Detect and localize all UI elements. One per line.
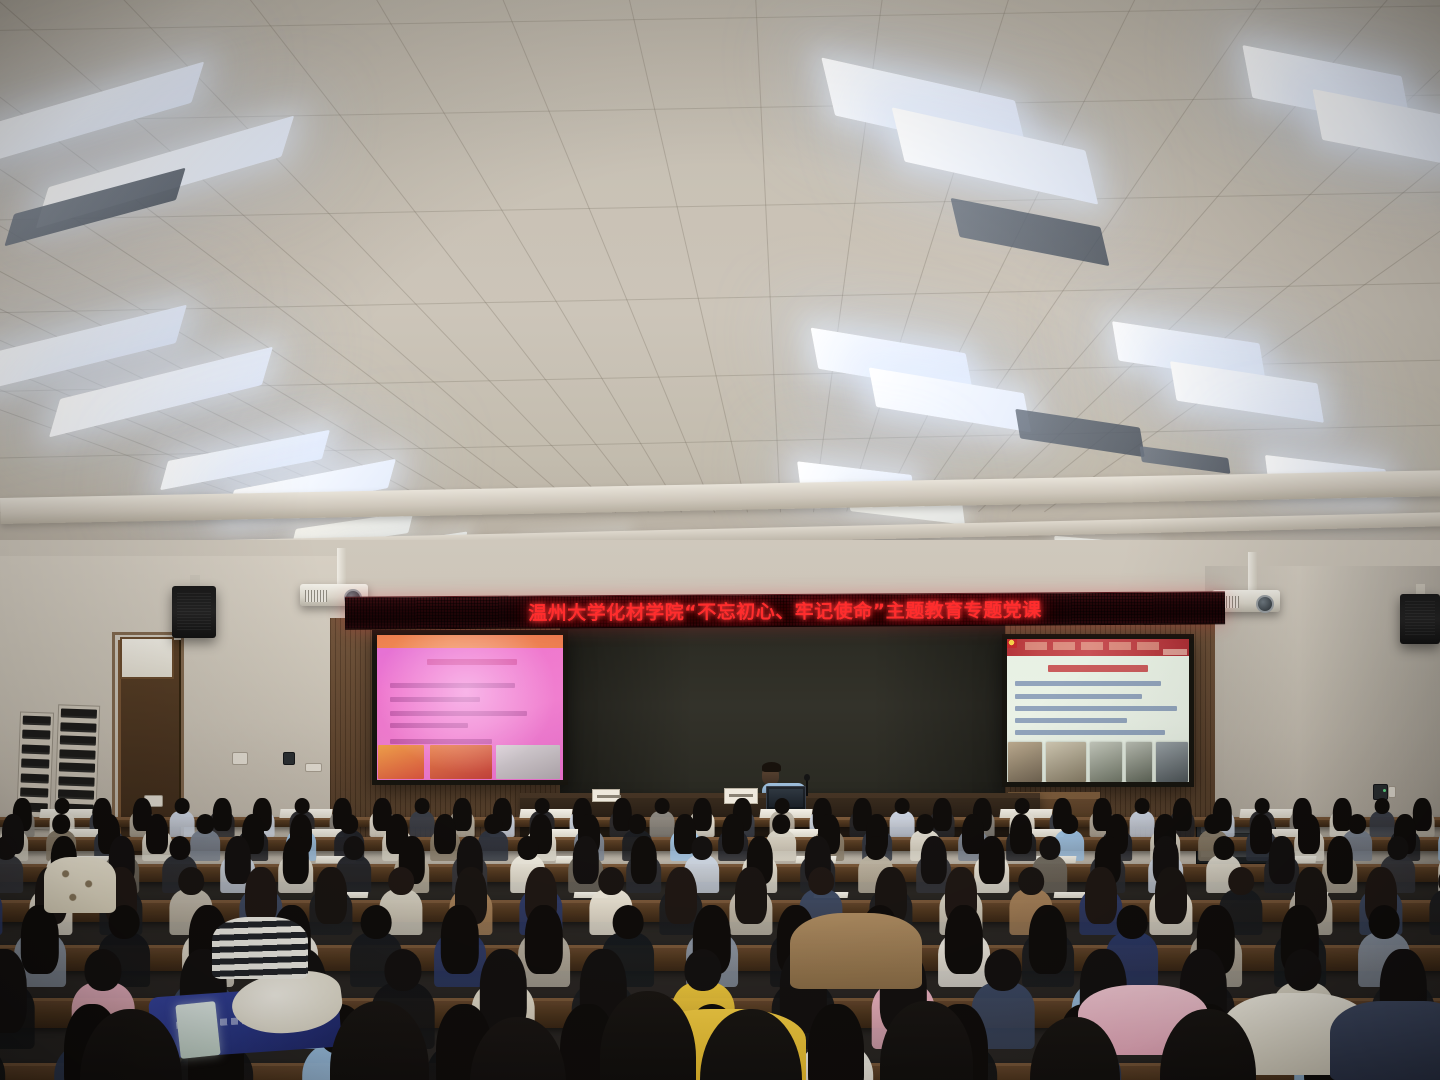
audience-head bbox=[385, 949, 422, 991]
audience-head bbox=[175, 798, 190, 815]
audience-torso bbox=[0, 855, 24, 893]
audience-hair bbox=[735, 867, 767, 925]
ceiling-grid-line bbox=[749, 0, 781, 512]
audience-head bbox=[484, 814, 502, 834]
audience-head bbox=[772, 814, 790, 834]
audience-hair bbox=[283, 836, 309, 884]
audience-head bbox=[196, 814, 214, 834]
audience-hair bbox=[722, 814, 744, 854]
audience-head bbox=[895, 798, 910, 815]
audience-head bbox=[1228, 867, 1254, 896]
presenter-hair bbox=[762, 762, 781, 772]
wall-control-panel-left[interactable] bbox=[283, 752, 295, 765]
ceiling-grid-line bbox=[0, 0, 286, 513]
led-banner: 温州大学化材学院“不忘初心、牢记使命”主题教育专题党课 bbox=[345, 591, 1225, 629]
projector-lens-icon bbox=[1256, 595, 1274, 613]
audience-head bbox=[1204, 814, 1222, 834]
audience-head bbox=[613, 905, 644, 940]
audience-head bbox=[1375, 798, 1390, 815]
right-projection-screen bbox=[1002, 634, 1194, 787]
audience-member bbox=[0, 865, 3, 937]
audience-head bbox=[0, 836, 16, 860]
speaker-mount-right bbox=[1416, 584, 1425, 594]
left-screen-frame bbox=[372, 630, 568, 785]
audience-head bbox=[1369, 905, 1400, 940]
audience-head bbox=[415, 798, 430, 815]
audience-head bbox=[1117, 905, 1148, 940]
microphone-icon bbox=[806, 778, 808, 796]
audience-head bbox=[361, 905, 392, 940]
audience-head bbox=[685, 949, 722, 991]
ceiling-grid-line bbox=[0, 0, 451, 513]
audience-head bbox=[1018, 867, 1044, 896]
tan-sweater bbox=[790, 913, 922, 989]
left-projection-screen bbox=[372, 630, 568, 785]
audience-head bbox=[628, 814, 646, 834]
audience-head bbox=[1039, 836, 1060, 860]
audience-head bbox=[55, 798, 70, 815]
audience-head bbox=[1015, 798, 1030, 815]
audience-hair bbox=[1155, 867, 1187, 925]
audience-head bbox=[916, 814, 934, 834]
audience-member bbox=[0, 1001, 6, 1080]
ceiling-grid-line bbox=[0, 0, 550, 513]
ceiling-grid-line bbox=[449, 0, 715, 512]
audience-head bbox=[1285, 949, 1322, 991]
phone-screen[interactable] bbox=[175, 1001, 220, 1059]
audience-head bbox=[808, 867, 834, 896]
audience-head bbox=[1255, 798, 1270, 815]
striped-sweater bbox=[212, 917, 308, 979]
audience-member bbox=[1429, 865, 1440, 937]
audience-head bbox=[1348, 814, 1366, 834]
audience-hair bbox=[315, 867, 347, 925]
wall-speaker-left bbox=[172, 586, 216, 638]
audience-head bbox=[343, 836, 364, 860]
ceiling-grid-line bbox=[149, 0, 649, 513]
ceiling-grid-line bbox=[0, 1, 1440, 35]
audience-torso bbox=[1429, 889, 1440, 935]
audience-head bbox=[598, 867, 624, 896]
audience-member bbox=[278, 835, 314, 894]
floral-top bbox=[44, 857, 116, 913]
audience-head bbox=[178, 867, 204, 896]
audience-head bbox=[691, 836, 712, 860]
ceiling-grid-line bbox=[0, 0, 583, 513]
audience-head bbox=[535, 798, 550, 815]
projector-pole-left bbox=[337, 548, 346, 586]
audience-head bbox=[388, 867, 414, 896]
audience-hair bbox=[1010, 814, 1032, 854]
audience-head bbox=[985, 949, 1022, 991]
device-rack-shelf bbox=[21, 773, 49, 783]
status-led-icon bbox=[1383, 789, 1386, 792]
audience-hair bbox=[631, 836, 657, 884]
audience-head bbox=[295, 798, 310, 815]
wall-plate-left-lower bbox=[305, 763, 322, 772]
right-screen-frame bbox=[1002, 634, 1194, 787]
device-rack-shelf bbox=[21, 759, 49, 769]
audience-head bbox=[517, 836, 538, 860]
audience-torso bbox=[0, 889, 3, 935]
led-banner-text: 温州大学化材学院“不忘初心、牢记使命”主题教育专题党课 bbox=[345, 592, 1225, 628]
audience-head bbox=[85, 949, 122, 991]
audience-member bbox=[0, 835, 24, 894]
wall-outlet-left[interactable] bbox=[232, 752, 248, 765]
audience-head bbox=[52, 814, 70, 834]
audience-hair bbox=[1298, 814, 1320, 854]
audience bbox=[0, 795, 1440, 1080]
projector-pole-right bbox=[1248, 552, 1257, 592]
denim-jacket bbox=[1330, 1001, 1440, 1080]
device-rack-shelf bbox=[59, 762, 95, 772]
audience-member bbox=[798, 1001, 874, 1080]
device-rack-shelf bbox=[60, 722, 96, 732]
audience-hair bbox=[808, 1004, 864, 1080]
lecture-hall-photo: 温州大学化材学院“不忘初心、牢记使命”主题教育专题党课 bbox=[0, 0, 1440, 1080]
audience-head bbox=[775, 798, 790, 815]
audience-head bbox=[1387, 836, 1408, 860]
device-rack-shelf bbox=[22, 730, 50, 740]
device-rack-shelf bbox=[22, 744, 50, 754]
audience-head bbox=[1135, 798, 1150, 815]
device-rack-shelf bbox=[61, 708, 97, 718]
audience-torso bbox=[0, 1043, 6, 1080]
device-rack-shelf bbox=[58, 776, 94, 786]
projector-vent-icon bbox=[305, 590, 327, 602]
audience-head bbox=[865, 836, 886, 860]
audience-head bbox=[1060, 814, 1078, 834]
audience-head bbox=[169, 836, 190, 860]
device-rack-shelf bbox=[60, 735, 96, 745]
wall-speaker-right bbox=[1400, 594, 1440, 644]
ceiling-grid-line bbox=[599, 0, 748, 512]
device-rack-shelf bbox=[59, 749, 95, 759]
audience-head bbox=[1213, 836, 1234, 860]
audience-head bbox=[340, 814, 358, 834]
device-rack-shelf bbox=[23, 716, 51, 726]
audience-head bbox=[655, 798, 670, 815]
